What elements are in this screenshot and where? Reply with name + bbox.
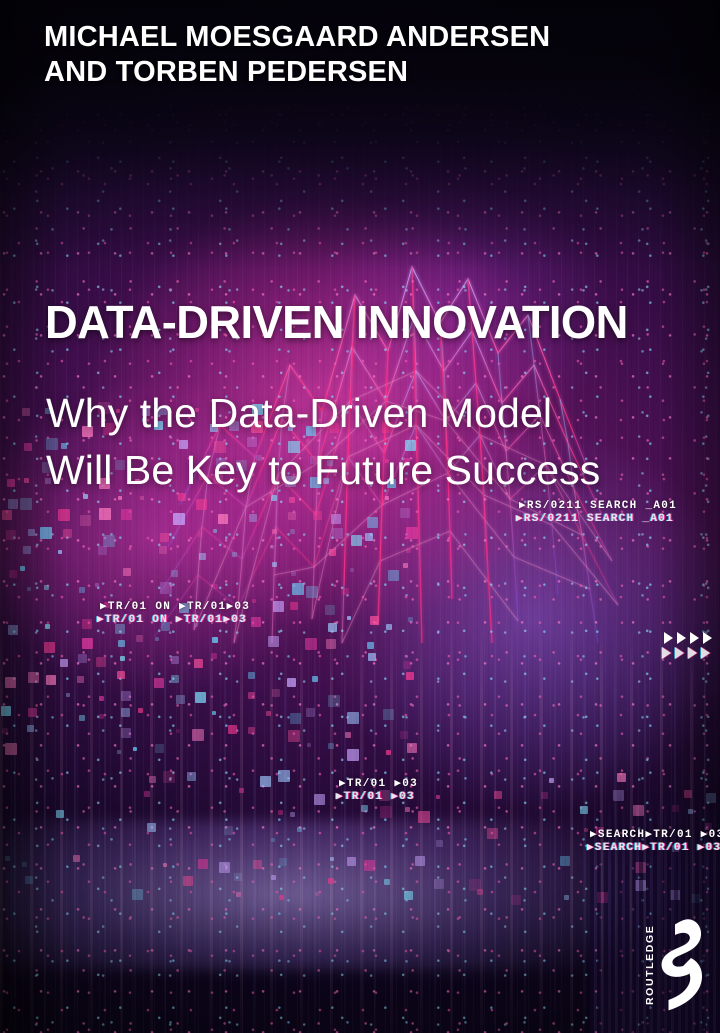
pixel-tile [1, 706, 11, 716]
play-arrow-icon [664, 632, 673, 644]
pixel-tile [82, 638, 93, 649]
pixel-tile [325, 605, 335, 615]
pixel-tile [45, 624, 50, 629]
pixel-tile [248, 727, 255, 734]
pixel-tile [6, 530, 16, 540]
pixel-tile [2, 510, 12, 520]
pixel-tile [144, 791, 150, 797]
pixel-tile [272, 689, 280, 697]
pixel-tile [248, 692, 255, 699]
overlay-text-tr-mid: ▶TR/01 ▶03 ▶TR/01 ▶03 [339, 778, 418, 804]
pixel-tile [155, 637, 159, 641]
pixel-tile [40, 527, 52, 539]
pixel-tile [79, 715, 85, 721]
publisher-name: ROUTLEDGE [645, 923, 656, 1005]
pixel-tile [198, 859, 208, 869]
pixel-tile [133, 747, 137, 751]
pixel-tile [367, 642, 374, 649]
pixel-tile [234, 873, 242, 881]
play-arrow-cluster [664, 632, 712, 662]
pixel-tile [136, 635, 143, 642]
pixel-tile [279, 858, 287, 866]
pixel-tile [307, 743, 311, 747]
pixel-tile [44, 642, 55, 653]
pixel-tile [408, 617, 413, 622]
pixel-tile [5, 743, 17, 755]
pixel-tile [306, 708, 315, 717]
pixel-tile [252, 599, 256, 603]
pixel-tile [248, 672, 255, 679]
pixel-tile [273, 601, 284, 612]
pixel-tile [306, 586, 318, 598]
book-cover: MICHAEL MOESGAARD ANDERSEN AND TORBEN PE… [0, 0, 720, 1033]
pixel-tile [163, 863, 167, 867]
play-arrow-icon [677, 632, 686, 644]
pixel-tile [487, 828, 498, 839]
pixel-tile [213, 584, 218, 589]
pixel-tile [477, 889, 483, 895]
pixel-tile [404, 891, 413, 900]
pixel-tile [22, 408, 30, 416]
play-arrow-icon [701, 647, 710, 659]
pixel-tile [28, 529, 35, 536]
author-names: MICHAEL MOESGAARD ANDERSEN AND TORBEN PE… [44, 20, 684, 90]
pixel-tile [288, 512, 296, 520]
pixel-tile [383, 709, 394, 720]
play-arrow-row-ghost [662, 647, 710, 659]
overlay-search-tr-ghost: ▶SEARCH▶TR/01 ▶03 [587, 842, 720, 855]
play-arrow-icon [662, 647, 671, 659]
pixel-tile [149, 776, 156, 783]
pixel-tile [272, 529, 277, 534]
pixel-tile [260, 776, 271, 787]
play-arrow-icon [675, 647, 684, 659]
pixel-tile [270, 545, 274, 549]
pixel-tile [20, 498, 32, 510]
pixel-tile [564, 895, 569, 900]
pixel-tile [287, 678, 296, 687]
pixel-tile [218, 514, 228, 524]
pixel-tile [494, 791, 502, 799]
pixel-tile [103, 535, 115, 547]
pixel-tile [330, 857, 334, 861]
pixel-tile [345, 732, 351, 738]
pixel-tile [27, 587, 31, 591]
pixel-tile [96, 657, 106, 667]
pixel-tile [66, 693, 70, 697]
pixel-tile [271, 838, 275, 842]
pixel-tile [121, 728, 131, 738]
pixel-tile [58, 550, 62, 554]
pixel-tile [171, 570, 178, 577]
pixel-tile [5, 856, 10, 861]
pixel-tile [123, 568, 131, 576]
pixel-tile [138, 708, 143, 713]
pixel-tile [388, 570, 399, 581]
pixel-tile [249, 514, 257, 522]
pixel-tile [198, 532, 203, 537]
pixel-tile [82, 619, 92, 629]
pixel-tile [171, 675, 179, 683]
pixel-tile [159, 546, 167, 554]
pixel-tile [194, 659, 203, 668]
author-line-1: MICHAEL MOESGAARD ANDERSEN [44, 20, 684, 55]
pixel-tile [232, 552, 237, 557]
pixel-tile [328, 878, 334, 884]
play-arrow-icon [703, 632, 712, 644]
pixel-tile [176, 729, 180, 733]
pixel-tile [380, 806, 392, 818]
pixel-tile [560, 856, 570, 866]
pixel-tile [272, 562, 277, 567]
pixel-tile [78, 654, 87, 663]
pixel-tile [24, 478, 29, 483]
overlay-tr-on-ghost: ▶TR/01 ON ▶TR/01▶03 [97, 614, 247, 627]
subtitle-line-2: Will Be Key to Future Success [46, 442, 706, 499]
overlay-tr-mid-primary: ▶TR/01 ▶03 [339, 778, 418, 790]
pixel-tile [315, 892, 319, 896]
pixel-tile [511, 895, 521, 905]
pixel-tile [28, 708, 37, 717]
author-line-2: AND TORBEN PEDERSEN [44, 55, 684, 90]
pixel-tile [251, 617, 261, 627]
pixel-tile [266, 711, 271, 716]
pixel-tile [99, 714, 104, 719]
pixel-tile [192, 729, 204, 741]
pixel-tile [332, 528, 343, 539]
overlay-rs-search-primary: ▶RS/0211 SEARCH _A01 [519, 500, 677, 512]
pixel-tile [313, 511, 322, 520]
pixel-tile [212, 637, 218, 643]
play-arrow-icon [690, 632, 699, 644]
pixel-tile [361, 805, 368, 812]
pixel-tile [406, 527, 418, 539]
pixel-tile [98, 546, 107, 555]
pixel-tile [370, 616, 379, 625]
overlay-search-tr-primary: ▶SEARCH▶TR/01 ▶03 [590, 829, 720, 841]
overlay-text-tr-on: ▶TR/01 ON ▶TR/01▶03 ▶TR/01 ON ▶TR/01▶03 [100, 601, 250, 627]
pixel-tile [328, 695, 340, 707]
overlay-tr-mid-ghost: ▶TR/01 ▶03 [336, 791, 415, 804]
pixel-tile [279, 895, 284, 900]
pixel-tile [60, 659, 68, 667]
pixel-tile [121, 708, 130, 717]
pixel-tile [160, 533, 169, 542]
pixel-tile [155, 744, 164, 753]
pixel-tile [8, 499, 18, 509]
pixel-tile [56, 810, 64, 818]
pixel-tile [268, 636, 279, 647]
pixel-tile [9, 570, 17, 578]
pixel-tile [407, 743, 417, 753]
pixel-tile [23, 546, 31, 554]
pixel-tile [228, 725, 237, 734]
pixel-tile [278, 810, 283, 815]
pixel-tile [2, 728, 8, 734]
pixel-tile [291, 571, 296, 576]
pixel-tile [8, 625, 18, 635]
pixel-tile [239, 788, 244, 793]
pixel-tile [163, 771, 175, 783]
pixel-tile [253, 860, 262, 869]
pixel-tile [290, 713, 301, 724]
pixel-tile [121, 691, 131, 701]
pixel-tile [213, 529, 217, 533]
pixel-tile [58, 509, 70, 521]
pixel-tile [183, 876, 193, 886]
pixel-tile [347, 749, 359, 761]
pixel-tile [118, 640, 125, 647]
pixel-tile [386, 624, 392, 630]
pixel-tile [326, 639, 336, 649]
pixel-tile [367, 517, 378, 528]
pixel-tile [290, 812, 295, 817]
pixel-tile [99, 696, 104, 701]
pixel-tile [584, 828, 588, 832]
pixel-tile [278, 770, 290, 782]
pixel-tile [196, 499, 207, 510]
book-subtitle: Why the Data-Driven Model Will Be Key to… [46, 385, 706, 499]
pixel-tile [219, 862, 230, 873]
publisher-logo: ROUTLEDGE [620, 917, 706, 1017]
pixel-tile [171, 656, 179, 664]
pixel-tile [271, 875, 276, 880]
pixel-tile [364, 860, 375, 871]
routledge-r-icon [660, 917, 706, 1013]
pixel-tile [290, 602, 298, 610]
pixel-tile [77, 676, 84, 683]
pixel-tile [199, 553, 206, 560]
pixel-tile [7, 479, 15, 487]
pixel-tile [20, 566, 25, 571]
pixel-tile [195, 692, 206, 703]
pixel-tile [236, 892, 241, 897]
pixel-tile [329, 549, 336, 556]
pixel-tile [212, 711, 216, 715]
pixel-tile [117, 671, 125, 679]
pixel-tile [120, 656, 125, 661]
pixel-tile [312, 676, 318, 682]
pixel-tile [187, 772, 196, 781]
pixel-tile [541, 792, 548, 799]
pixel-tile [400, 508, 410, 518]
play-arrow-row [664, 632, 712, 644]
pixel-tile [415, 856, 425, 866]
pixel-tile [580, 806, 588, 814]
pixel-tile [95, 583, 99, 587]
pixel-tile [160, 582, 172, 594]
pixel-tile [132, 889, 143, 900]
pixel-tile [350, 568, 354, 572]
pixel-tile [176, 695, 185, 704]
pixel-tile [549, 778, 554, 783]
pixel-tile [63, 529, 72, 538]
pixel-tile [121, 509, 132, 520]
pixel-tile [99, 508, 111, 520]
pixel-tile [27, 725, 34, 732]
pixel-tile [406, 548, 411, 553]
pixel-tile [434, 879, 444, 889]
pixel-tile [79, 587, 85, 593]
pixel-tile [5, 677, 16, 688]
pixel-tile [617, 773, 626, 782]
pixel-tile [80, 515, 91, 526]
pixel-tile [386, 750, 391, 755]
pixel-tile [288, 730, 300, 742]
play-arrow-icon [688, 647, 697, 659]
pixel-tile [436, 795, 440, 799]
overlay-rs-search-ghost: ▶RS/0211 SEARCH _A01 [516, 513, 674, 526]
pixel-tile [211, 653, 217, 659]
pixel-tile [347, 712, 359, 724]
pixel-tile [403, 661, 411, 669]
pixel-tile [368, 653, 376, 661]
overlay-tr-on-primary: ▶TR/01 ON ▶TR/01▶03 [100, 601, 250, 613]
pixel-tile [25, 876, 33, 884]
pixel-tile [347, 616, 351, 620]
pixel-tile [22, 862, 27, 867]
pixel-tile [406, 672, 414, 680]
pixel-tile [400, 731, 408, 739]
overlay-text-rs-search: ▶RS/0211 SEARCH _A01 ▶RS/0211 SEARCH _A0… [519, 500, 677, 526]
subtitle-line-1: Why the Data-Driven Model [46, 385, 706, 442]
pixel-tile [403, 563, 408, 568]
pixel-tile [173, 513, 185, 525]
pixel-tile [436, 840, 443, 847]
pixel-tile [46, 675, 56, 685]
pixel-tile [331, 514, 341, 524]
overlay-text-search-tr: ▶SEARCH▶TR/01 ▶03 ▶SEARCH▶TR/01 ▶03 [590, 829, 720, 855]
pixel-tile [342, 588, 349, 595]
pixel-tile [328, 743, 334, 749]
pixel-tile [365, 533, 373, 541]
pixel-tile [24, 443, 32, 451]
pixel-tile [384, 879, 390, 885]
pixel-tile [290, 529, 295, 534]
pixel-tile [147, 823, 156, 832]
pixel-tile [418, 811, 430, 823]
pixel-tile [224, 826, 233, 835]
pixel-tile [314, 794, 325, 805]
pixel-tile [347, 857, 356, 866]
pixel-tile [351, 535, 362, 546]
book-title: DATA-DRIVEN INNOVATION [45, 297, 685, 347]
pixel-tile [292, 583, 304, 595]
pixel-tile [44, 585, 49, 590]
pixel-tile [328, 623, 337, 632]
pixel-tile [297, 827, 302, 832]
pixel-tile [28, 672, 39, 683]
pixel-tile [305, 638, 317, 650]
pixel-tile [73, 855, 80, 862]
pixel-tile [154, 678, 164, 688]
pixel-tile [117, 750, 121, 754]
pixel-tile [405, 807, 410, 812]
